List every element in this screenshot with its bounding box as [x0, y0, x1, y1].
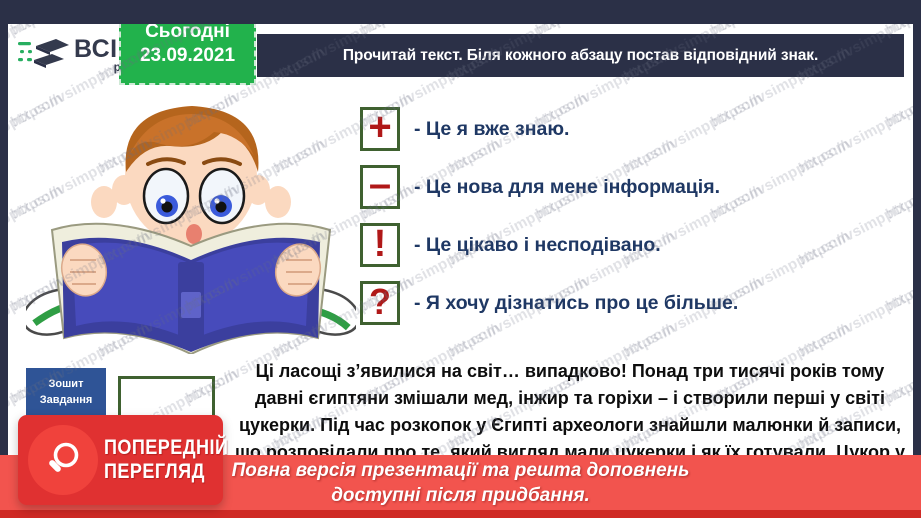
- today-date-box: Сьогодні 23.09.2021: [119, 24, 256, 85]
- preview-line-1: ПОПЕРЕДНІЙ: [104, 436, 228, 460]
- legend-symbol-box: ?: [360, 281, 400, 325]
- legend-symbol-box: !: [360, 223, 400, 267]
- question-sign-icon: ?: [369, 284, 391, 320]
- legend-item-plus: + - Це я вже знаю.: [360, 100, 900, 158]
- legend-item-question: ? - Я хочу дізнатись про це більше.: [360, 274, 900, 332]
- legend-label: - Це я вже знаю.: [414, 118, 569, 141]
- preview-line-2: ПЕРЕГЛЯД: [104, 460, 228, 484]
- magnifier-icon: [42, 439, 84, 481]
- legend-item-minus: – - Це нова для мене інформація.: [360, 158, 900, 216]
- instruction-banner: Прочитай текст. Біля кожного абзацу пост…: [257, 34, 904, 77]
- today-label: Сьогодні: [145, 24, 230, 43]
- task-line-1: Зошит: [49, 376, 84, 392]
- preview-icon-circle: [28, 425, 98, 495]
- graduation-cap-icon: [18, 33, 70, 77]
- today-date: 23.09.2021: [140, 45, 235, 67]
- legend-item-exclamation: ! - Це цікаво і несподівано.: [360, 216, 900, 274]
- instruction-text: Прочитай текст. Біля кожного абзацу пост…: [343, 47, 818, 65]
- plus-sign-icon: +: [368, 107, 391, 147]
- legend-label: - Це цікаво і несподівано.: [414, 234, 661, 257]
- overlay-line-1: Повна версія презентації та решта доповн…: [232, 458, 690, 483]
- boy-reading-book-illustration: [26, 84, 356, 354]
- legend-label: - Це нова для мене інформація.: [414, 176, 720, 199]
- legend-symbol-box: +: [360, 107, 400, 151]
- exclamation-sign-icon: !: [374, 225, 387, 263]
- legend-label: - Я хочу дізнатись про це більше.: [414, 292, 738, 315]
- legend-symbol-box: –: [360, 165, 400, 209]
- head: [112, 106, 270, 246]
- task-line-2: Завдання: [40, 392, 93, 408]
- preview-badge[interactable]: ПОПЕРЕДНІЙ ПЕРЕГЛЯД: [18, 415, 223, 505]
- minus-sign-icon: –: [369, 164, 391, 204]
- preview-text: ПОПЕРЕДНІЙ ПЕРЕГЛЯД: [104, 436, 228, 484]
- overlay-line-2: доступні після придбання.: [331, 483, 590, 508]
- symbol-legend: + - Це я вже знаю. – - Це нова для мене …: [360, 100, 900, 332]
- overlay-bottom-bar: [0, 510, 921, 518]
